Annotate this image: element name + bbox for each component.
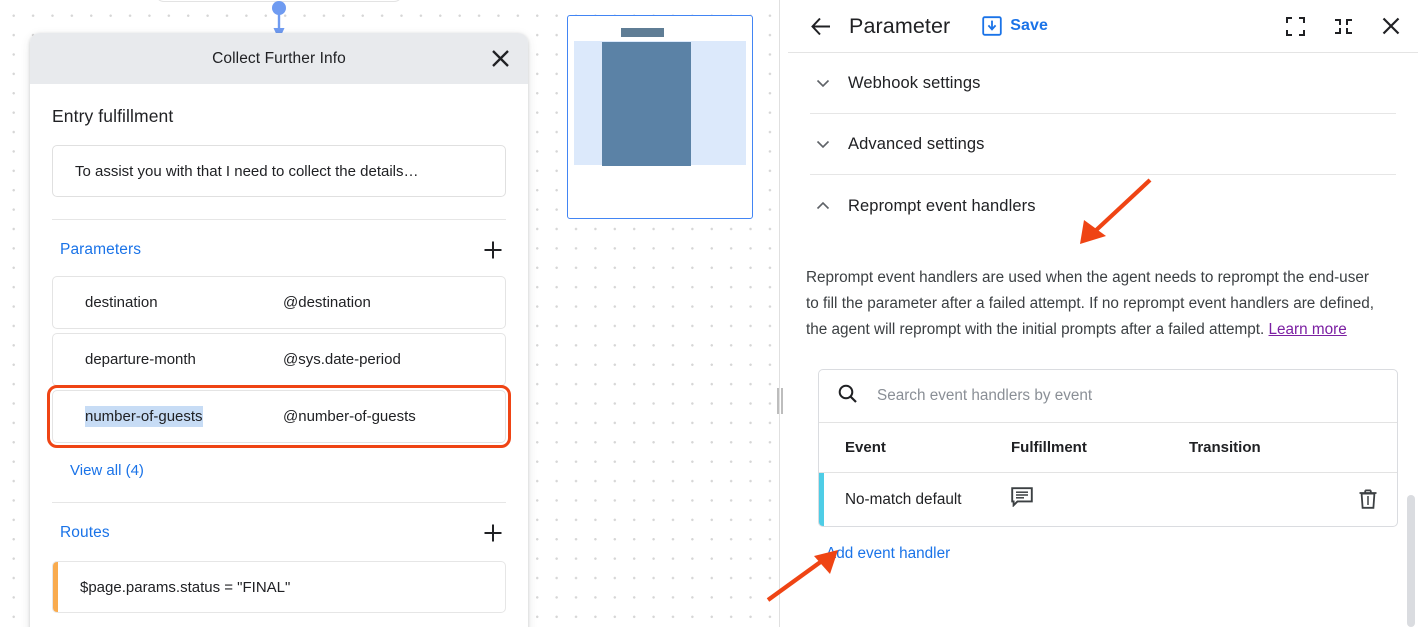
parameter-panel: Parameter Save [788,0,1418,627]
route-accent-bar [53,562,58,612]
reprompt-description: Reprompt event handlers are used when th… [788,237,1418,342]
node-tab [621,28,664,37]
accordion-label: Advanced settings [848,135,985,154]
event-handlers-header-row: Event Fulfillment Transition [819,423,1397,473]
add-event-handler-link[interactable]: Add event handler [788,527,950,563]
parameter-row[interactable]: departure-month@sys.date-period [52,333,506,386]
learn-more-link[interactable]: Learn more [1269,321,1347,338]
routes-label[interactable]: Routes [60,524,110,542]
column-header-fulfillment: Fulfillment [1011,439,1189,456]
parameters-list: destination@destinationdeparture-month@s… [52,276,506,443]
parameter-name: number-of-guests [53,408,283,425]
chevron-down-icon [814,135,832,153]
route-condition: $page.params.status = "FINAL" [53,579,290,596]
page-card-body: Entry fulfillment To assist you with tha… [30,84,528,627]
event-handlers-rows: No-match default [819,473,1397,526]
placeholder-node[interactable] [567,15,753,219]
divider-drag-handle[interactable] [776,388,784,414]
accordion-advanced-settings[interactable]: Advanced settings [788,114,1418,174]
routes-list: $page.params.status = "FINAL" [52,561,506,613]
routes-section-header: Routes [52,503,506,559]
parameter-name: destination [53,294,283,311]
parameter-entity: @number-of-guests [283,408,416,425]
panel-header-actions [1282,13,1404,39]
panel-divider[interactable] [779,0,788,627]
search-icon [837,383,858,409]
parameter-entity: @destination [283,294,371,311]
close-icon[interactable] [486,45,514,73]
view-all-row: View all (4) [52,447,506,480]
page-title: Parameter [849,14,950,39]
row-accent-bar [819,473,824,526]
parameter-name: departure-month [53,351,283,368]
route-row[interactable]: $page.params.status = "FINAL" [52,561,506,613]
entry-fulfillment-box[interactable]: To assist you with that I need to collec… [52,145,506,197]
node-block [602,42,691,166]
parameters-label[interactable]: Parameters [60,241,141,259]
entry-fulfillment-text: To assist you with that I need to collec… [75,163,419,180]
event-handlers-table: Event Fulfillment Transition No-match de… [818,369,1398,527]
column-header-transition: Transition [1189,439,1397,456]
parameter-entity: @sys.date-period [283,351,401,368]
panel-header: Parameter Save [788,0,1418,53]
plus-icon[interactable] [480,520,506,546]
screen: Collect Further Info Entry fulfillment T… [0,0,1418,627]
event-handler-event: No-match default [819,491,1011,509]
flow-canvas[interactable]: Collect Further Info Entry fulfillment T… [0,0,779,627]
selected-text: number-of-guests [85,406,203,427]
parameter-row[interactable]: destination@destination [52,276,506,329]
accordion-label: Reprompt event handlers [848,197,1036,216]
page-card-header: Collect Further Info [30,33,528,84]
parameters-section-header: Parameters [52,220,506,276]
trash-icon[interactable] [1356,488,1380,512]
save-button[interactable]: Save [982,16,1048,36]
accordion-webhook-settings[interactable]: Webhook settings [788,53,1418,113]
accordion-label: Webhook settings [848,74,980,93]
accordion-reprompt-event-handlers[interactable]: Reprompt event handlers [788,175,1418,237]
event-handlers-search-row [819,370,1397,423]
search-input[interactable] [877,387,1379,405]
message-icon[interactable] [1011,487,1189,512]
save-icon [982,16,1002,36]
event-handler-row[interactable]: No-match default [819,473,1397,526]
collapse-icon[interactable] [1330,13,1356,39]
page-card[interactable]: Collect Further Info Entry fulfillment T… [30,33,528,627]
chevron-down-icon [814,74,832,92]
close-icon[interactable] [1378,13,1404,39]
column-header-event: Event [819,439,1011,456]
page-title: Collect Further Info [212,50,346,68]
entry-fulfillment-label: Entry fulfillment [52,84,506,127]
plus-icon[interactable] [480,237,506,263]
save-button-label: Save [1010,17,1048,35]
view-all-link[interactable]: View all (4) [70,462,144,479]
fullscreen-icon[interactable] [1282,13,1308,39]
panel-scrollbar[interactable] [1407,495,1415,627]
arrow-left-icon[interactable] [806,11,836,41]
parameter-row[interactable]: number-of-guests@number-of-guests [52,390,506,443]
chevron-up-icon [814,197,832,215]
